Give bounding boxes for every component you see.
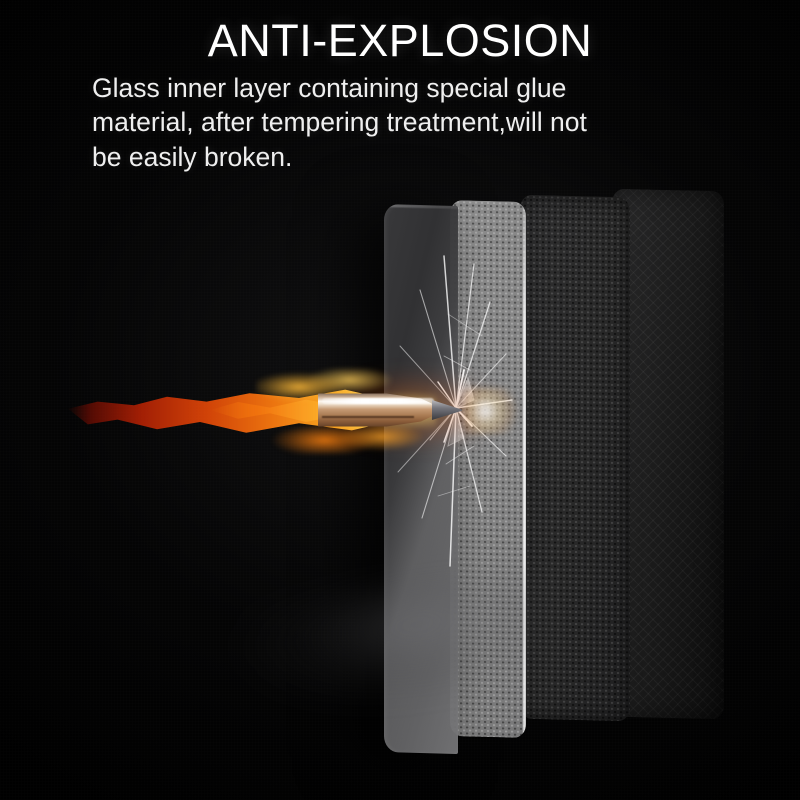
glue-mesh-layer — [450, 200, 526, 738]
copy-block: ANTI-EXPLOSION Glass inner layer contain… — [0, 0, 800, 174]
description-line-3: be easily broken. — [92, 140, 720, 174]
description-line-2: material, after tempering treatment,will… — [92, 105, 720, 139]
flame-core — [210, 390, 410, 430]
product-feature-image: ANTI-EXPLOSION Glass inner layer contain… — [0, 0, 800, 800]
middle-mesh-layer — [520, 195, 630, 722]
page-title: ANTI-EXPLOSION — [0, 0, 800, 63]
description-line-1: Glass inner layer containing special glu… — [92, 71, 720, 105]
flame-tail — [68, 380, 398, 440]
tempered-glass-front — [384, 204, 458, 754]
description-text: Glass inner layer containing special glu… — [0, 63, 720, 174]
